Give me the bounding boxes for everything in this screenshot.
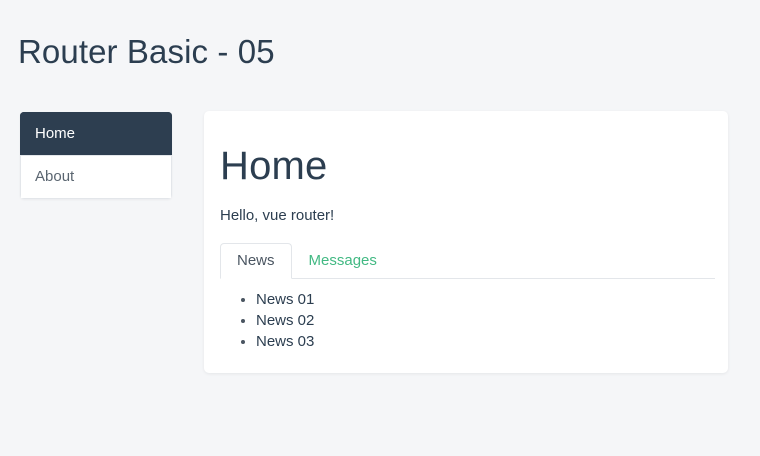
page-title: Router Basic - 05 <box>18 30 275 74</box>
tab-news[interactable]: News <box>220 243 292 279</box>
sidebar-item-label: Home <box>35 125 75 142</box>
list-item[interactable]: News 03 <box>256 331 728 352</box>
list-item[interactable]: News 02 <box>256 310 728 331</box>
sidebar-item-about[interactable]: About <box>20 155 172 199</box>
view-paragraph: Hello, vue router! <box>204 190 728 226</box>
view-heading: Home <box>204 111 728 190</box>
list-item[interactable]: News 01 <box>256 289 728 310</box>
tab-messages[interactable]: Messages <box>292 243 394 279</box>
app-root: Router Basic - 05 Home About Home Hello,… <box>0 0 760 456</box>
router-view-card: Home Hello, vue router! News Messages Ne… <box>204 111 728 373</box>
news-list: News 01 News 02 News 03 <box>204 289 728 352</box>
sidebar-item-home[interactable]: Home <box>20 112 172 155</box>
sidebar-nav: Home About <box>20 112 172 199</box>
tab-label: News <box>237 252 275 269</box>
tab-bar: News Messages <box>220 244 715 279</box>
tab-label: Messages <box>309 252 377 269</box>
sidebar-item-label: About <box>35 168 74 185</box>
